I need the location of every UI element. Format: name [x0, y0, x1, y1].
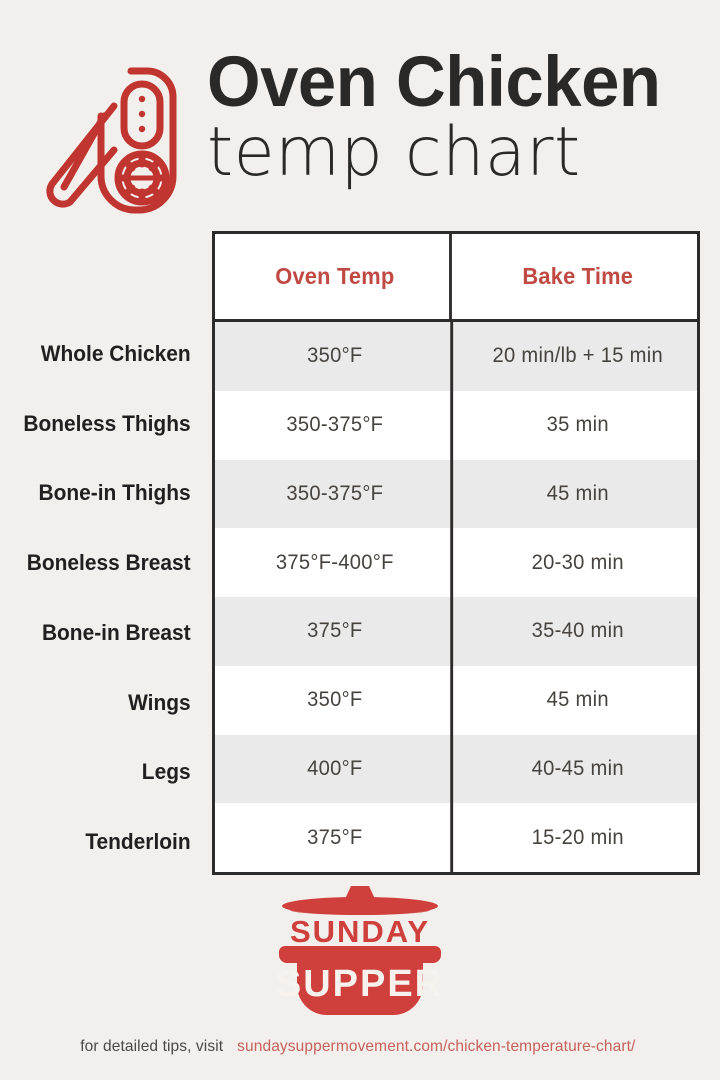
cell-bake-time: 20-30 min [462, 528, 692, 597]
column-header-oven-temp: Oven Temp [221, 234, 451, 319]
table-row: 400°F 40-45 min [215, 735, 697, 804]
row-label-bone-in-thighs: Bone-in Thighs [10, 459, 202, 529]
table-row: 375°F 35-40 min [215, 597, 697, 666]
sunday-supper-pot-icon: SUNDAY SUPPER [265, 884, 455, 1016]
cell-oven-temp: 350-375°F [220, 460, 453, 529]
cell-bake-time: 45 min [462, 666, 692, 735]
thermometer-oven-icon [36, 54, 201, 219]
row-label-tenderloin: Tenderloin [10, 807, 202, 877]
footer-prefix-text: for detailed tips, visit [80, 1038, 223, 1056]
cell-oven-temp: 375°F [220, 803, 453, 872]
title-block: Oven Chicken temp chart [207, 50, 675, 187]
table-row: 375°F-400°F 20-30 min [215, 528, 697, 597]
cell-oven-temp: 350°F [220, 322, 453, 391]
cell-bake-time: 15-20 min [462, 803, 692, 872]
cell-bake-time: 35-40 min [462, 597, 692, 666]
row-label-wings: Wings [10, 668, 202, 738]
row-label-boneless-breast: Boneless Breast [10, 528, 202, 598]
footer: for detailed tips, visit sundaysuppermov… [0, 1032, 720, 1062]
footer-url-link[interactable]: sundaysuppermovement.com/chicken-tempera… [238, 1038, 636, 1056]
row-label-whole-chicken: Whole Chicken [10, 319, 202, 389]
header: Oven Chicken temp chart [0, 48, 720, 223]
table-row: 350°F 45 min [215, 666, 697, 735]
row-label-bone-in-breast: Bone-in Breast [10, 598, 202, 668]
column-header-bake-time: Bake Time [463, 234, 691, 319]
logo-word-supper: SUPPER [276, 963, 444, 1005]
table-row: 350-375°F 45 min [215, 460, 697, 529]
cell-bake-time: 45 min [462, 460, 692, 529]
table-body: 350°F 20 min/lb + 15 min 350-375°F 35 mi… [215, 322, 697, 872]
row-labels-column: Whole Chicken Boneless Thighs Bone-in Th… [0, 319, 202, 877]
page-title: Oven Chicken [207, 50, 660, 115]
cell-bake-time: 20 min/lb + 15 min [462, 322, 692, 391]
data-table: Oven Temp Bake Time 350°F 20 min/lb + 15… [212, 231, 700, 875]
page-subtitle: temp chart [207, 119, 581, 187]
cell-bake-time: 35 min [462, 391, 692, 460]
row-label-legs: Legs [10, 738, 202, 808]
cell-bake-time: 40-45 min [462, 735, 692, 804]
logo-word-sunday: SUNDAY [290, 914, 430, 949]
brand-logo: SUNDAY SUPPER [0, 884, 720, 1016]
table-row: 350°F 20 min/lb + 15 min [215, 322, 697, 391]
cell-oven-temp: 400°F [220, 735, 453, 804]
table-row: 350-375°F 35 min [215, 391, 697, 460]
cell-oven-temp: 350-375°F [220, 391, 453, 460]
cell-oven-temp: 375°F-400°F [220, 528, 453, 597]
cell-oven-temp: 375°F [220, 597, 453, 666]
table-row: 375°F 15-20 min [215, 803, 697, 872]
cell-oven-temp: 350°F [220, 666, 453, 735]
row-label-boneless-thighs: Boneless Thighs [10, 389, 202, 459]
temp-chart: Whole Chicken Boneless Thighs Bone-in Th… [0, 231, 720, 877]
table-header-row: Oven Temp Bake Time [215, 234, 697, 322]
infographic-page: Oven Chicken temp chart Whole Chicken Bo… [0, 0, 720, 1080]
